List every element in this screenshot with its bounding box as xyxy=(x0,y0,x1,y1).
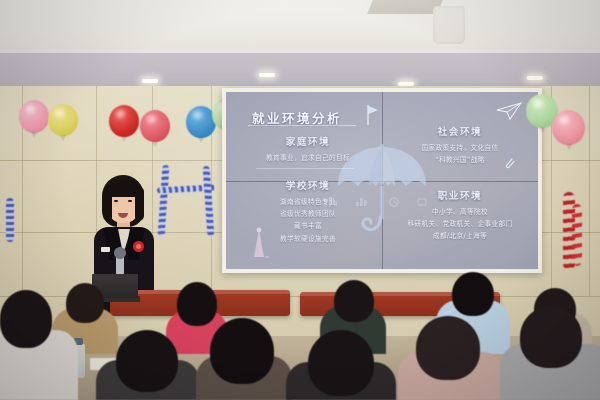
downlight xyxy=(527,76,543,80)
audience-member-head xyxy=(308,330,374,396)
quadrant-career: 职业环境 中小学、高等院校 科研机关、党政机关、企事业部门 成都/北京/上海等 xyxy=(384,188,536,243)
audience-member-head xyxy=(334,280,374,322)
title-underline xyxy=(248,125,356,126)
projector-screen: 就业环境分析 家庭环境 教育事业，追求自己的目标 社会环境 xyxy=(222,88,542,273)
audience-member-head xyxy=(177,282,217,326)
quadrant-heading: 社会环境 xyxy=(386,124,534,138)
presentation-slide: 就业环境分析 家庭环境 教育事业，追求自己的目标 社会环境 xyxy=(226,92,538,269)
quadrant-separator xyxy=(256,168,354,169)
quadrant-social: 社会环境 国家政策支持，文化自信 “科教兴国”战略 xyxy=(386,124,534,166)
yellow-balloon xyxy=(48,104,78,136)
paper-plane-icon xyxy=(496,102,522,120)
quadrant-line: 科研机关、党政机关、企事业部门 xyxy=(384,218,536,230)
audience-member-head xyxy=(116,330,178,392)
downlight xyxy=(259,73,275,77)
pink-balloon xyxy=(19,100,49,133)
rose-balloon xyxy=(140,110,170,142)
audience-member-head xyxy=(66,283,104,323)
person-graphic xyxy=(248,227,270,259)
flag-icon xyxy=(364,104,382,126)
pink-balloon xyxy=(552,110,585,145)
quadrant-line: “科教兴国”战略 xyxy=(386,154,534,166)
quadrant-line: 国家政策支持，文化自信 xyxy=(386,142,534,154)
ceiling xyxy=(0,0,600,52)
tinsel-decoration xyxy=(6,198,14,242)
ceiling-vent xyxy=(367,0,443,14)
quadrant-line: 中小学、高等院校 xyxy=(384,206,536,218)
audience-member-head xyxy=(452,272,494,316)
downlight xyxy=(142,79,158,83)
quadrant-line: 教育事业，追求自己的目标 xyxy=(240,152,376,164)
quadrant-line: 省级优秀教师团队 xyxy=(238,208,378,220)
red-streamer-decoration xyxy=(572,204,582,266)
ceiling-soffit xyxy=(0,50,600,88)
audience-member-head xyxy=(210,318,274,384)
quadrant-line: 湖南省级特色专业 xyxy=(238,196,378,208)
presenter-name-badge xyxy=(101,247,110,252)
quadrant-heading: 职业环境 xyxy=(384,188,536,202)
lecture-hall-photo: 就业环境分析 家庭环境 教育事业，追求自己的目标 社会环境 xyxy=(0,0,600,400)
audience-member-head xyxy=(416,316,480,380)
quadrant-heading: 家庭环境 xyxy=(240,134,376,148)
presenter-flower-corsage xyxy=(133,241,144,252)
quadrant-line: 成都/北京/上海等 xyxy=(384,230,536,242)
quadrant-heading: 学校环境 xyxy=(238,178,378,192)
quadrant-family: 家庭环境 教育事业，追求自己的目标 xyxy=(240,134,376,164)
soffit-edge xyxy=(0,50,600,53)
ceiling-speaker-box xyxy=(433,6,465,44)
presenter-eye-right xyxy=(128,200,132,202)
audience-member-head xyxy=(0,290,52,348)
microphone-head xyxy=(114,247,126,259)
presenter-hair-side-left xyxy=(103,187,112,221)
audience-member-head xyxy=(520,306,582,368)
red-balloon xyxy=(109,105,139,137)
presenter-eye-left xyxy=(114,200,118,202)
presenter-hair-side-right xyxy=(135,187,144,221)
